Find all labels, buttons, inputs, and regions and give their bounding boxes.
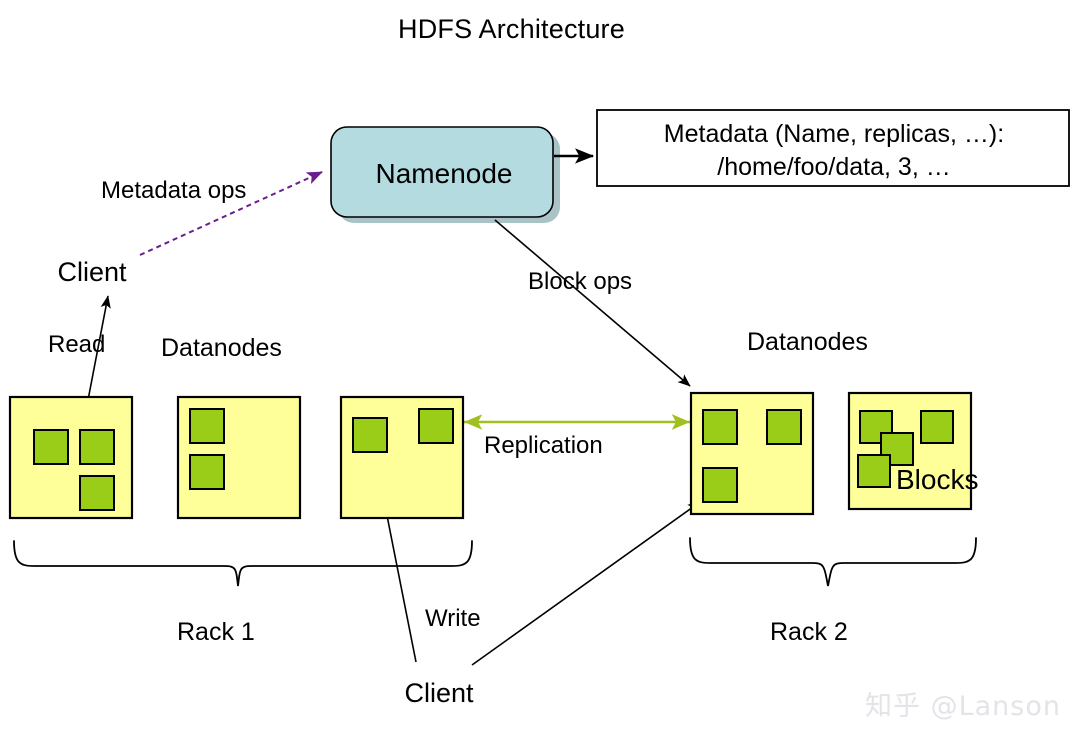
watermark: 知乎 @Lanson (865, 684, 1061, 723)
datanode-5-block-2 (921, 411, 953, 443)
namenode-box[interactable] (331, 127, 553, 217)
group-label-rack-2: Rack 2 (770, 618, 848, 647)
datanode-3[interactable] (341, 397, 463, 518)
datanode-2[interactable] (178, 397, 300, 518)
hdfs-architecture-diagram: HDFS Architecture Namenode Metadata (Nam… (0, 0, 1089, 753)
rack1-brace (14, 541, 472, 586)
datanode-4-block-3 (703, 468, 737, 502)
datanode-1-block-3 (80, 476, 114, 510)
datanode-4-block-1 (703, 410, 737, 444)
edge-label-write: Write (425, 605, 481, 633)
datanode-4[interactable] (691, 393, 813, 514)
datanode-1-block-2 (80, 430, 114, 464)
datanode-3-block-2 (419, 409, 453, 443)
page-title: HDFS Architecture (398, 14, 625, 45)
group-label-datanodes-right: Datanodes (747, 328, 868, 357)
group-label-blocks: Blocks (896, 464, 978, 496)
diagram-canvas (0, 0, 1089, 753)
edge-label-metadata-ops: Metadata ops (101, 177, 246, 205)
datanode-3-block-1 (353, 418, 387, 452)
metadata-box (597, 110, 1069, 186)
rack2-brace (690, 538, 976, 586)
datanode-1-block-1 (34, 430, 68, 464)
edge-block-ops (495, 220, 690, 386)
datanode-5-block-4 (858, 455, 890, 487)
namenode-node[interactable] (331, 127, 560, 223)
group-label-datanodes-left: Datanodes (161, 334, 282, 363)
datanode-4-block-2 (767, 410, 801, 444)
edge-label-replication: Replication (484, 432, 603, 460)
edge-write-to-rack2 (472, 502, 700, 665)
group-label-rack-1: Rack 1 (177, 618, 255, 647)
edge-label-block-ops: Block ops (528, 268, 632, 296)
edge-label-read: Read (48, 331, 105, 359)
datanode-2-block-1 (190, 409, 224, 443)
datanode-1[interactable] (10, 397, 132, 518)
datanode-2-block-2 (190, 455, 224, 489)
